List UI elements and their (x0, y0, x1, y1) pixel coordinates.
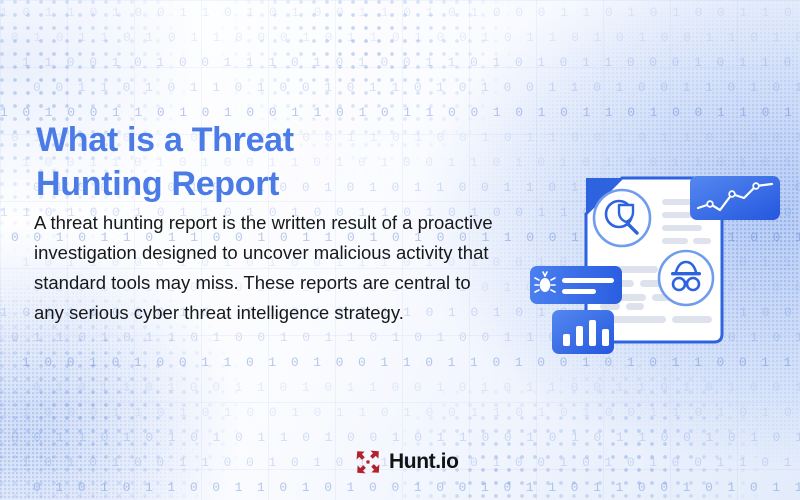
hunt-crosshair-arrows-icon (355, 449, 381, 475)
body-paragraph: A threat hunting report is the written r… (34, 208, 504, 328)
page-title-line-2: Hunting Report (36, 163, 456, 207)
spy-incognito-icon (659, 251, 713, 305)
line-chart-card (690, 176, 780, 220)
logo-wordmark: Hunt.io (389, 450, 459, 474)
poster-canvas: 1 0 1 1 0 1 0 0 1 1 0 1 0 1 0 0 1 1 0 1 … (0, 0, 800, 500)
page-title-line-1: What is a Threat (36, 119, 456, 163)
page-title: What is a Threat Hunting Report (36, 119, 456, 207)
threat-hunting-report-illustration (516, 158, 784, 362)
magnifier-shield-icon (594, 190, 650, 246)
brand-logo: Hunt.io (355, 449, 459, 475)
bug-alert-bar (530, 266, 622, 304)
bar-chart-card (552, 310, 614, 354)
body-description: A threat hunting report is the written r… (34, 208, 504, 328)
